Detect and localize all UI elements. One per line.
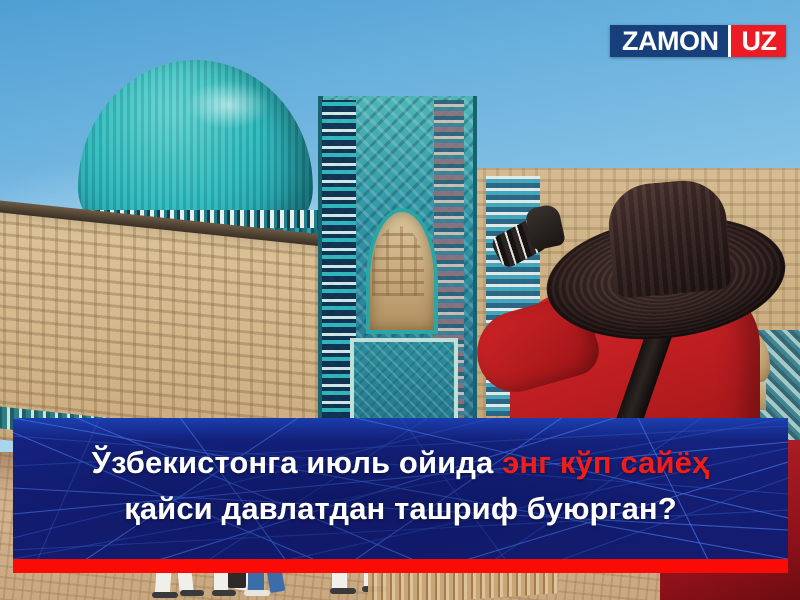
tourist-figure bbox=[470, 170, 800, 460]
logo-accent-text: UZ bbox=[731, 25, 786, 57]
caption-line-2: қайси давлатдан ташриф буюрган? bbox=[13, 486, 788, 532]
caption-text: Ўзбекистонга июль ойида энг кўп сайёҳ қа… bbox=[13, 440, 788, 532]
tourist-hand-with-camera bbox=[524, 203, 566, 251]
banner-accent-bar bbox=[13, 559, 788, 573]
caption-line1-highlight: энг кўп сайёҳ bbox=[502, 445, 709, 480]
caption-banner: Ўзбекистонга июль ойида энг кўп сайёҳ қа… bbox=[13, 418, 788, 559]
caption-line-1: Ўзбекистонга июль ойида энг кўп сайёҳ bbox=[13, 440, 788, 486]
tourist-hat-crown bbox=[605, 177, 732, 299]
caption-line1-plain: Ўзбекистонга июль ойида bbox=[92, 445, 502, 480]
logo-primary-text: ZAMON bbox=[610, 25, 728, 57]
zamon-uz-logo[interactable]: ZAMON UZ bbox=[610, 25, 786, 57]
social-card-root: ZAMON UZ bbox=[0, 0, 800, 600]
